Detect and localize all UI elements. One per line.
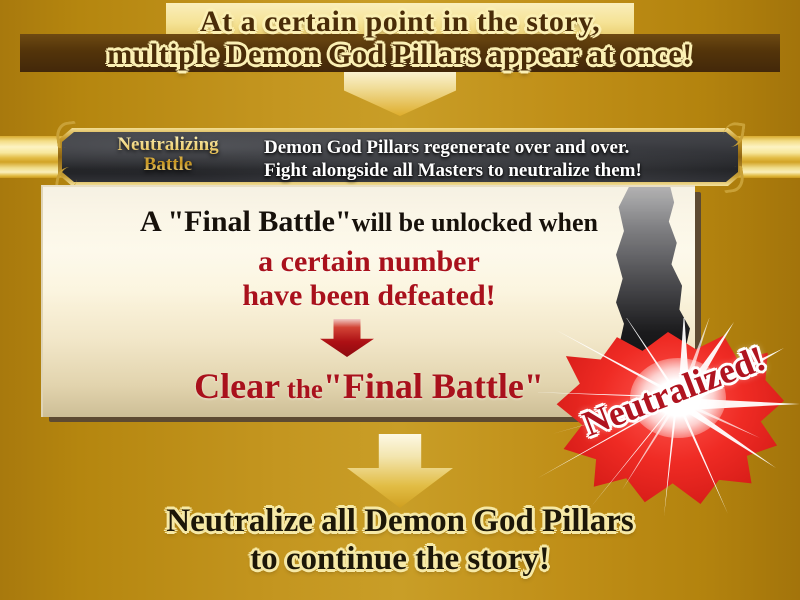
arrow-down-gold-icon [347,434,453,508]
bottom-line-2: to continue the story! [0,541,800,578]
panel-line-4-the: the [287,374,323,404]
title-block: At a certain point in the story, multipl… [0,0,800,78]
neutralized-badge: Neutralized! [538,318,800,516]
banner-description: Demon God Pillars regenerate over and ov… [264,136,732,182]
title-line-2: multiple Demon God Pillars appear at onc… [0,38,800,72]
panel-line-1-rest: will be unlocked when [352,208,598,237]
panel-line-1-quoted: A "Final Battle" [140,205,352,238]
banner-label: Neutralizing Battle [78,135,258,175]
panel-line-4-verb: Clear [194,366,280,406]
arrow-down-red-icon [320,319,374,357]
title-line-1: At a certain point in the story, [0,5,800,39]
bottom-line-1: Neutralize all Demon God Pillars [0,503,800,540]
panel-line-1: A "Final Battle"will be unlocked when [43,205,695,239]
banner-label-line-1: Neutralizing [78,135,258,155]
panel-line-2: a certain number [43,245,695,279]
banner-desc-line-2: Fight alongside all Masters to neutraliz… [264,159,732,182]
chevron-down-icon [344,72,456,116]
banner-desc-line-1: Demon God Pillars regenerate over and ov… [264,136,732,159]
panel-line-4-quoted: "Final Battle" [323,366,544,406]
infographic-screen: At a certain point in the story, multipl… [0,0,800,600]
banner-label-line-2: Battle [78,155,258,175]
panel-line-3: have been defeated! [43,279,695,313]
neutralizing-battle-banner: Neutralizing Battle Demon God Pillars re… [58,128,742,186]
